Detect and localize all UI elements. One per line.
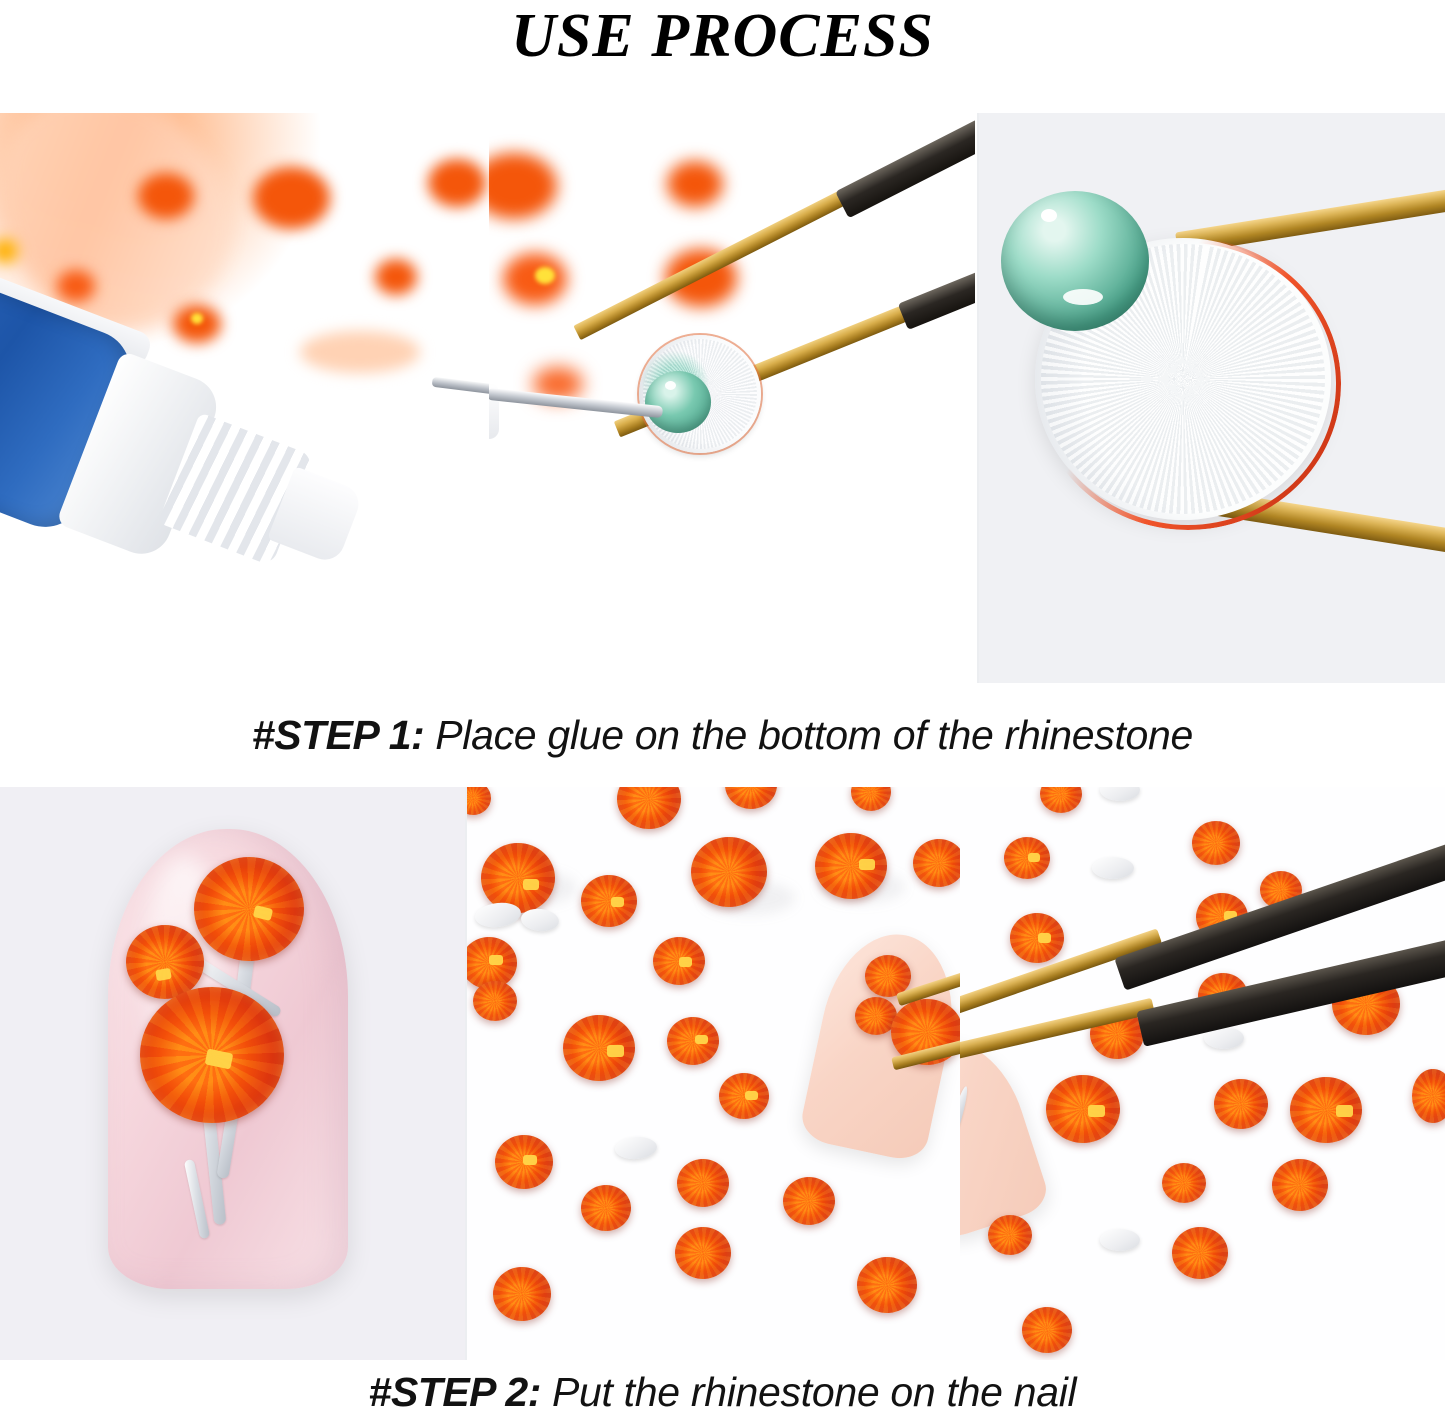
rhinestone-glint [1088, 1105, 1105, 1117]
rhinestone-macro-photo [977, 113, 1445, 683]
blurred-rhinestone [428, 159, 486, 207]
tweezer-handle-lower [898, 252, 975, 330]
blurred-rhinestone [138, 173, 194, 219]
rhinestone [473, 981, 517, 1021]
silver-foil-accent [184, 1159, 210, 1239]
rhinestone [691, 837, 767, 907]
step-1-block: R C [0, 113, 1445, 787]
rhinestone-flat-back [1100, 1229, 1140, 1251]
rhinestone [639, 335, 784, 460]
rhinestone [1172, 1227, 1228, 1279]
scattered-rhinestones-photo [465, 787, 962, 1360]
rhinestone [783, 1177, 835, 1225]
use-process-infographic: USE PROCESS R C [0, 0, 1445, 1412]
rhinestone-glint [1028, 853, 1040, 862]
rhinestone [1412, 1069, 1445, 1123]
glue-highlight [1063, 289, 1103, 305]
rhinestone [465, 787, 491, 815]
glue-droplet [645, 371, 711, 433]
rhinestone [1004, 837, 1050, 879]
blurred-rhinestone [300, 331, 420, 373]
rhinestone-glint [679, 957, 692, 967]
rhinestone-flat-back [1092, 857, 1134, 879]
nail-tip [960, 1025, 1052, 1243]
step-1-text: Place glue on the bottom of the rhinesto… [424, 712, 1193, 758]
tweezer-handle-upper [835, 119, 975, 218]
rhinestone [581, 875, 637, 927]
step-2-photo-row [0, 787, 1445, 1360]
rhinestone-glint [745, 1091, 758, 1100]
tweezer-arm-upper [573, 190, 848, 340]
rhinestone [1162, 1163, 1206, 1203]
step-2-block: #STEP 2: Put the rhinestone on the nail [0, 787, 1445, 1412]
rhinestone [617, 787, 681, 829]
pink-nail [108, 829, 348, 1289]
step-2-caption: #STEP 2: Put the rhinestone on the nail [0, 1360, 1445, 1412]
step-1-label: #STEP 1: [252, 712, 424, 758]
glue-highlight [665, 381, 676, 390]
blurred-rhinestone [489, 153, 557, 219]
rhinestone [1022, 1307, 1072, 1353]
rhinestone [1046, 1075, 1120, 1143]
rhinestone [481, 843, 555, 913]
rhinestone [913, 839, 962, 887]
rhinestone [126, 925, 204, 999]
rhinestone [581, 1185, 631, 1231]
rhinestone-glint [859, 859, 875, 870]
rhinestone [1040, 787, 1082, 813]
rhinestone [1192, 821, 1240, 865]
rhinestone [815, 833, 887, 899]
rhinestone-flat-back [474, 900, 523, 929]
rhinestone [493, 1267, 551, 1321]
blurred-rhinestone [57, 270, 95, 302]
page-title: USE PROCESS [0, 0, 1445, 74]
rhinestone-flat-back [1100, 787, 1140, 801]
rhinestone-glint [607, 1045, 624, 1057]
rhinestone-glint [695, 1035, 708, 1044]
rhinestone [1010, 913, 1064, 963]
rhinestone-glint [611, 897, 624, 907]
step-2-text: Put the rhinestone on the nail [541, 1369, 1076, 1415]
glue-droplet [1001, 191, 1149, 331]
glue-bottle-photo: R C [0, 113, 489, 683]
rhinestone-glint [489, 955, 503, 965]
rhinestone-flat-back [520, 907, 560, 933]
rhinestone [857, 1257, 917, 1313]
rhinestone [725, 787, 777, 809]
rhinestone-glint [523, 1155, 537, 1165]
tweezers-holding-rhinestone-photo [489, 113, 975, 683]
rhinestone [988, 1215, 1032, 1255]
blurred-rhinestone [253, 167, 330, 229]
rhinestone-glint [1336, 1105, 1353, 1117]
rhinestone [851, 787, 891, 811]
tweezers-placing-rhinestone-photo [960, 787, 1445, 1360]
rhinestone-glint [191, 313, 203, 324]
step-2-label: #STEP 2: [369, 1369, 541, 1415]
rhinestone-glint [1038, 933, 1051, 943]
rhinestone [1214, 1079, 1268, 1129]
step-1-caption: #STEP 1: Place glue on the bottom of the… [0, 683, 1445, 787]
rhinestone [1272, 1159, 1328, 1211]
rhinestone [675, 1227, 731, 1279]
glue-highlight [1041, 209, 1057, 222]
blurred-rhinestone [173, 305, 221, 343]
rhinestone [194, 857, 304, 961]
rhinestone [677, 1159, 729, 1207]
step-1-photo-row: R C [0, 113, 1445, 683]
decorated-nail-photo [0, 787, 465, 1360]
rhinestone-flat-back [614, 1136, 657, 1161]
rhinestone-glint [523, 879, 539, 890]
rhinestone [719, 1073, 769, 1119]
blurred-rhinestone [667, 161, 723, 207]
rhinestone [667, 1017, 719, 1065]
rhinestone-glint [535, 267, 555, 284]
rhinestone [563, 1015, 635, 1081]
blurred-rhinestone [375, 259, 417, 295]
